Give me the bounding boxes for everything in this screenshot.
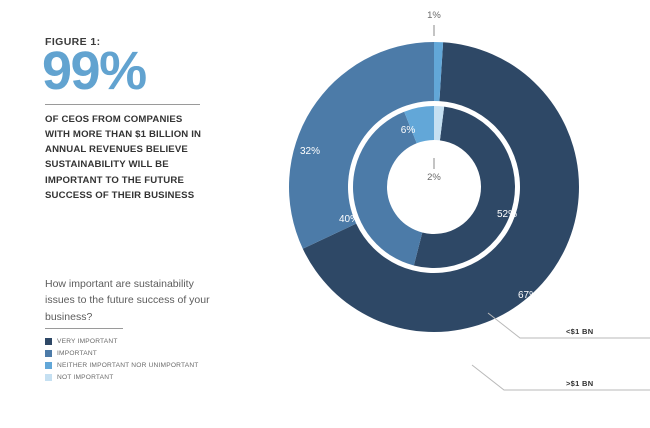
slice-label-outer-important: 32% (300, 146, 320, 157)
legend-swatch-icon (45, 350, 52, 357)
legend-swatch-icon (45, 338, 52, 345)
slice-label-inner-very-important: 52% (497, 209, 517, 220)
slice-label-inner-neither: 6% (401, 125, 416, 136)
headline-statistic: 99% (42, 44, 146, 98)
slice-label-outer-very-important: 67% (518, 290, 538, 301)
inner-ring-group (353, 106, 515, 268)
legend-item-label: NEITHER IMPORTANT NOR UNIMPORTANT (57, 362, 199, 369)
legend-item-neither: NEITHER IMPORTANT NOR UNIMPORTANT (45, 360, 199, 372)
legend-item-not-important: NOT IMPORTANT (45, 372, 199, 384)
callout-label-inner: <$1 BN (566, 327, 593, 336)
donut-chart-svg: 67% 32% 1% 52% 40% 6% 2% <$1 BN >$1 BN (270, 0, 650, 428)
callout-leader-outer (472, 365, 650, 390)
legend-item-very-important: VERY IMPORTANT (45, 336, 199, 348)
outer-ring-group (289, 42, 579, 332)
legend-item-label: VERY IMPORTANT (57, 338, 118, 345)
callout-label-outer: >$1 BN (566, 379, 593, 388)
legend-swatch-icon (45, 362, 52, 369)
legend-item-label: IMPORTANT (57, 350, 97, 357)
legend-item-important: IMPORTANT (45, 348, 199, 360)
figure-panel: FIGURE 1: 99% OF CEOS FROM COMPANIES WIT… (0, 0, 270, 428)
chart-legend: VERY IMPORTANT IMPORTANT NEITHER IMPORTA… (45, 336, 199, 384)
legend-swatch-icon (45, 374, 52, 381)
donut-chart: 67% 32% 1% 52% 40% 6% 2% <$1 BN >$1 BN (270, 0, 650, 428)
legend-divider (45, 328, 123, 329)
slice-label-outer-neither: 1% (427, 10, 441, 21)
survey-question: How important are sustainability issues … (45, 276, 225, 325)
slice-label-inner-important: 40% (339, 214, 359, 225)
slice-label-inner-not-important: 2% (427, 172, 441, 183)
legend-item-label: NOT IMPORTANT (57, 374, 113, 381)
headline-description: OF CEOS FROM COMPANIES WITH MORE THAN $1… (45, 112, 210, 203)
stat-divider (45, 104, 200, 105)
